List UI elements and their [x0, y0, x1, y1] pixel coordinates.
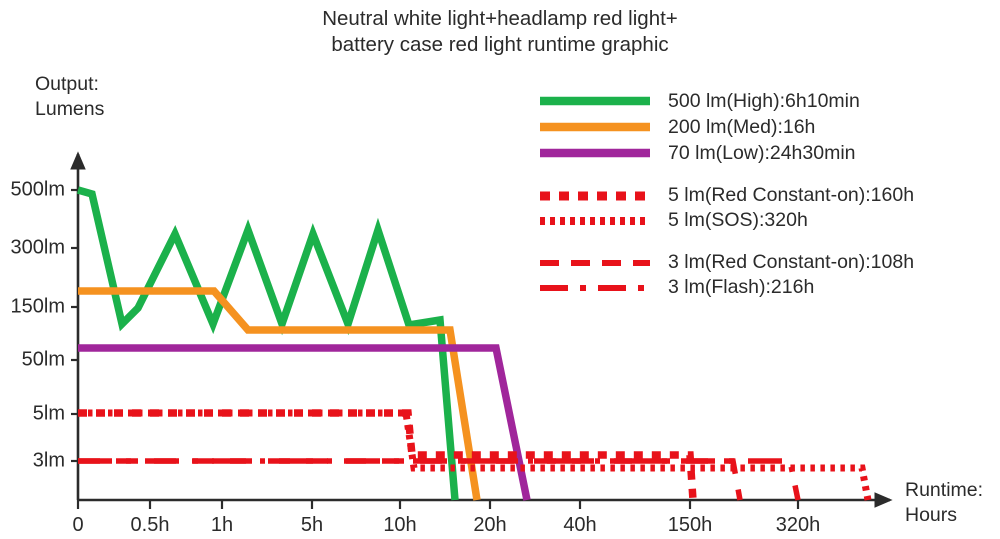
series-line-3	[78, 413, 693, 500]
y-tick-label-4: 5lm	[33, 403, 65, 426]
legend-item-label: 70 lm(Low):24h30min	[668, 142, 856, 165]
legend-item-label: 500 lm(High):6h10min	[668, 90, 860, 113]
legend-item[interactable]: 3 lm(Red Constant-on):108h	[536, 250, 956, 275]
legend-line-solid-purple	[536, 142, 654, 164]
legend-item-label: 3 lm(Flash):216h	[668, 276, 814, 299]
legend-line-dashdot-red	[536, 277, 654, 299]
x-tick-label-4: 10h	[383, 514, 416, 537]
legend-line-dashed-red	[536, 185, 654, 207]
x-tick-label-3: 5h	[301, 514, 323, 537]
legend-line-solid-orange	[536, 116, 654, 138]
y-tick-label-1: 300lm	[11, 237, 65, 260]
legend-line-longdash-red	[536, 252, 654, 274]
legend-line-dotted-red	[536, 210, 654, 232]
x-tick-label-7: 150h	[668, 514, 713, 537]
x-tick-label-2: 1h	[211, 514, 233, 537]
x-tick-label-5: 20h	[473, 514, 506, 537]
legend-item[interactable]: 500 lm(High):6h10min	[536, 88, 956, 114]
x-tick-label-1: 0.5h	[131, 514, 170, 537]
runtime-chart: Neutral white light+headlamp red light+ …	[0, 0, 1000, 539]
x-tick-label-0: 0	[72, 514, 83, 537]
legend-item[interactable]: 5 lm(SOS):320h	[536, 208, 956, 233]
y-tick-label-2: 150lm	[11, 296, 65, 319]
legend-line-solid-green	[536, 90, 654, 112]
legend-item[interactable]: 70 lm(Low):24h30min	[536, 140, 956, 166]
y-tick-label-3: 50lm	[22, 349, 65, 372]
legend-item[interactable]: 3 lm(Flash):216h	[536, 275, 956, 300]
legend-item[interactable]: 200 lm(Med):16h	[536, 114, 956, 140]
legend-item-label: 3 lm(Red Constant-on):108h	[668, 251, 914, 274]
legend: 500 lm(High):6h10min200 lm(Med):16h70 lm…	[536, 88, 956, 300]
x-tick-label-6: 40h	[563, 514, 596, 537]
legend-item-label: 200 lm(Med):16h	[668, 116, 815, 139]
x-tick-label-8: 320h	[776, 514, 821, 537]
legend-item-label: 5 lm(Red Constant-on):160h	[668, 184, 914, 207]
legend-item[interactable]: 5 lm(Red Constant-on):160h	[536, 183, 956, 208]
y-tick-label-5: 3lm	[33, 450, 65, 473]
y-tick-label-0: 500lm	[11, 179, 65, 202]
legend-item-label: 5 lm(SOS):320h	[668, 209, 808, 232]
